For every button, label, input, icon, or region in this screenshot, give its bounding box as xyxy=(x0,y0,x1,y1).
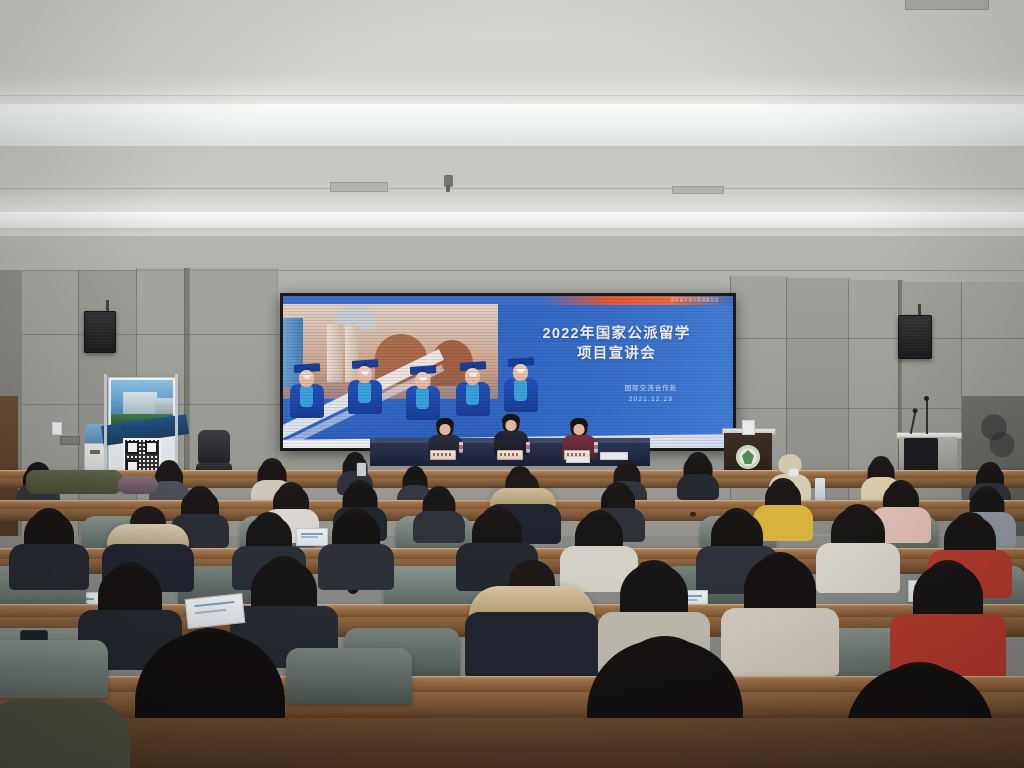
water-bottle xyxy=(594,442,598,453)
coat-pile xyxy=(118,476,158,494)
table-papers xyxy=(566,456,590,463)
screen-date: 2021.12.29 xyxy=(591,396,711,403)
screen-title: 2022年国家公派留学 项目宣讲会 xyxy=(514,324,719,364)
wall-notice xyxy=(52,422,62,435)
desk-surface-front xyxy=(0,718,1024,768)
ceiling-vent xyxy=(672,186,724,194)
banner-heading: 国际交流合作处 xyxy=(115,425,169,433)
audience-person xyxy=(896,560,1000,676)
sprinkler-head xyxy=(444,175,453,187)
water-bottle xyxy=(459,442,463,453)
wall-speaker-left xyxy=(84,311,116,353)
wall-sign xyxy=(60,436,80,445)
gooseneck-microphone xyxy=(926,400,928,434)
water-bottle xyxy=(526,442,530,453)
wall-speaker-right xyxy=(898,315,932,359)
ceiling-vent xyxy=(905,0,989,10)
seat-back xyxy=(0,640,108,698)
foreground-shoulder-left xyxy=(0,700,130,768)
ceiling-light-strip xyxy=(0,212,1024,228)
audience-person xyxy=(322,508,390,586)
coat-pile xyxy=(26,470,122,494)
ceiling-vent xyxy=(330,182,388,192)
audience-person xyxy=(416,486,462,538)
nameplate xyxy=(497,450,523,460)
front-podium xyxy=(722,428,774,476)
university-emblem xyxy=(736,445,760,469)
program-brochure xyxy=(185,593,246,629)
screen-title-line1: 2022年国家公派留学 xyxy=(514,324,719,344)
dispenser-tap xyxy=(90,450,100,454)
ceiling-light-strip xyxy=(0,104,1024,146)
screen-title-line2: 项目宣讲会 xyxy=(514,344,719,364)
screen-photo-graduates xyxy=(283,304,498,448)
desk-grommet xyxy=(690,512,696,517)
audience-person xyxy=(14,508,84,584)
screen-organizer: 国际交流合作处 xyxy=(591,382,711,392)
screen-topbar-text: 国家留学基金管理委员会 xyxy=(671,297,719,303)
nameplate xyxy=(430,450,456,460)
face-mask xyxy=(788,468,799,477)
podium-paper xyxy=(742,420,755,435)
cable-coil xyxy=(978,404,1018,462)
audience-person xyxy=(678,452,718,488)
table-papers xyxy=(600,452,628,460)
mobile-phone xyxy=(356,462,367,477)
lecture-hall-photo: 国家留学基金管理委员会 xyxy=(0,0,1024,768)
